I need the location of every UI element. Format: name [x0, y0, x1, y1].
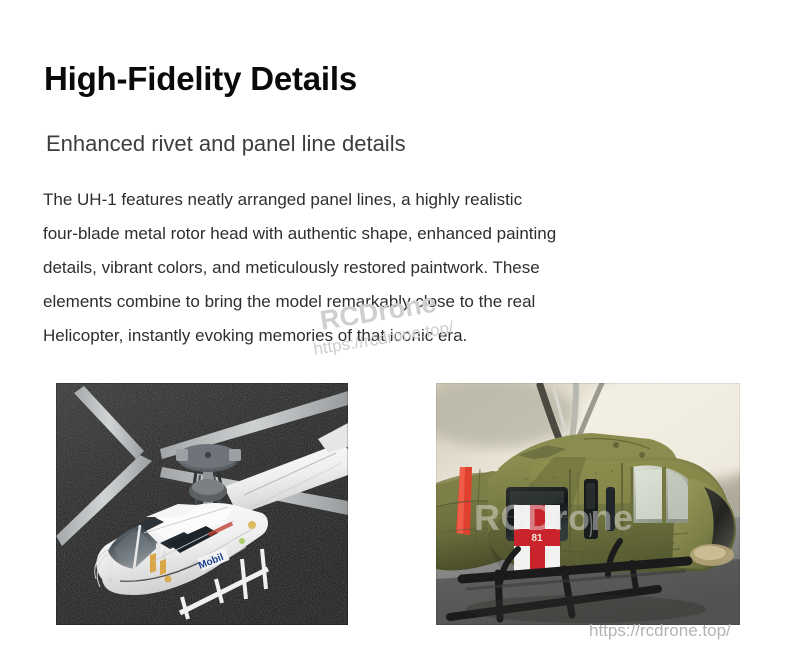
paragraph-line: The UH-1 features neatly arranged panel … [43, 183, 749, 217]
paragraph-line: four-blade metal rotor head with authent… [43, 217, 749, 251]
photo-green-helicopter: 81 [436, 383, 740, 625]
marking-number: 81 [531, 533, 543, 544]
paragraph-line: elements combine to bring the model rema… [43, 285, 749, 319]
slide-canvas: High-Fidelity Details Enhanced rivet and… [0, 0, 790, 672]
paragraph-line: details, vibrant colors, and meticulousl… [43, 251, 749, 285]
green-helicopter-illustration: 81 [436, 383, 740, 625]
page-title: High-Fidelity Details [44, 60, 357, 98]
paragraph-line: Helicopter, instantly evoking memories o… [43, 319, 749, 353]
red-cross-marking: 81 [514, 505, 560, 573]
white-helicopter-illustration: Mobil [56, 383, 348, 625]
photo-white-helicopter: Mobil [56, 383, 348, 625]
page-subtitle: Enhanced rivet and panel line details [46, 131, 406, 157]
description-paragraph: The UH-1 features neatly arranged panel … [43, 183, 749, 353]
